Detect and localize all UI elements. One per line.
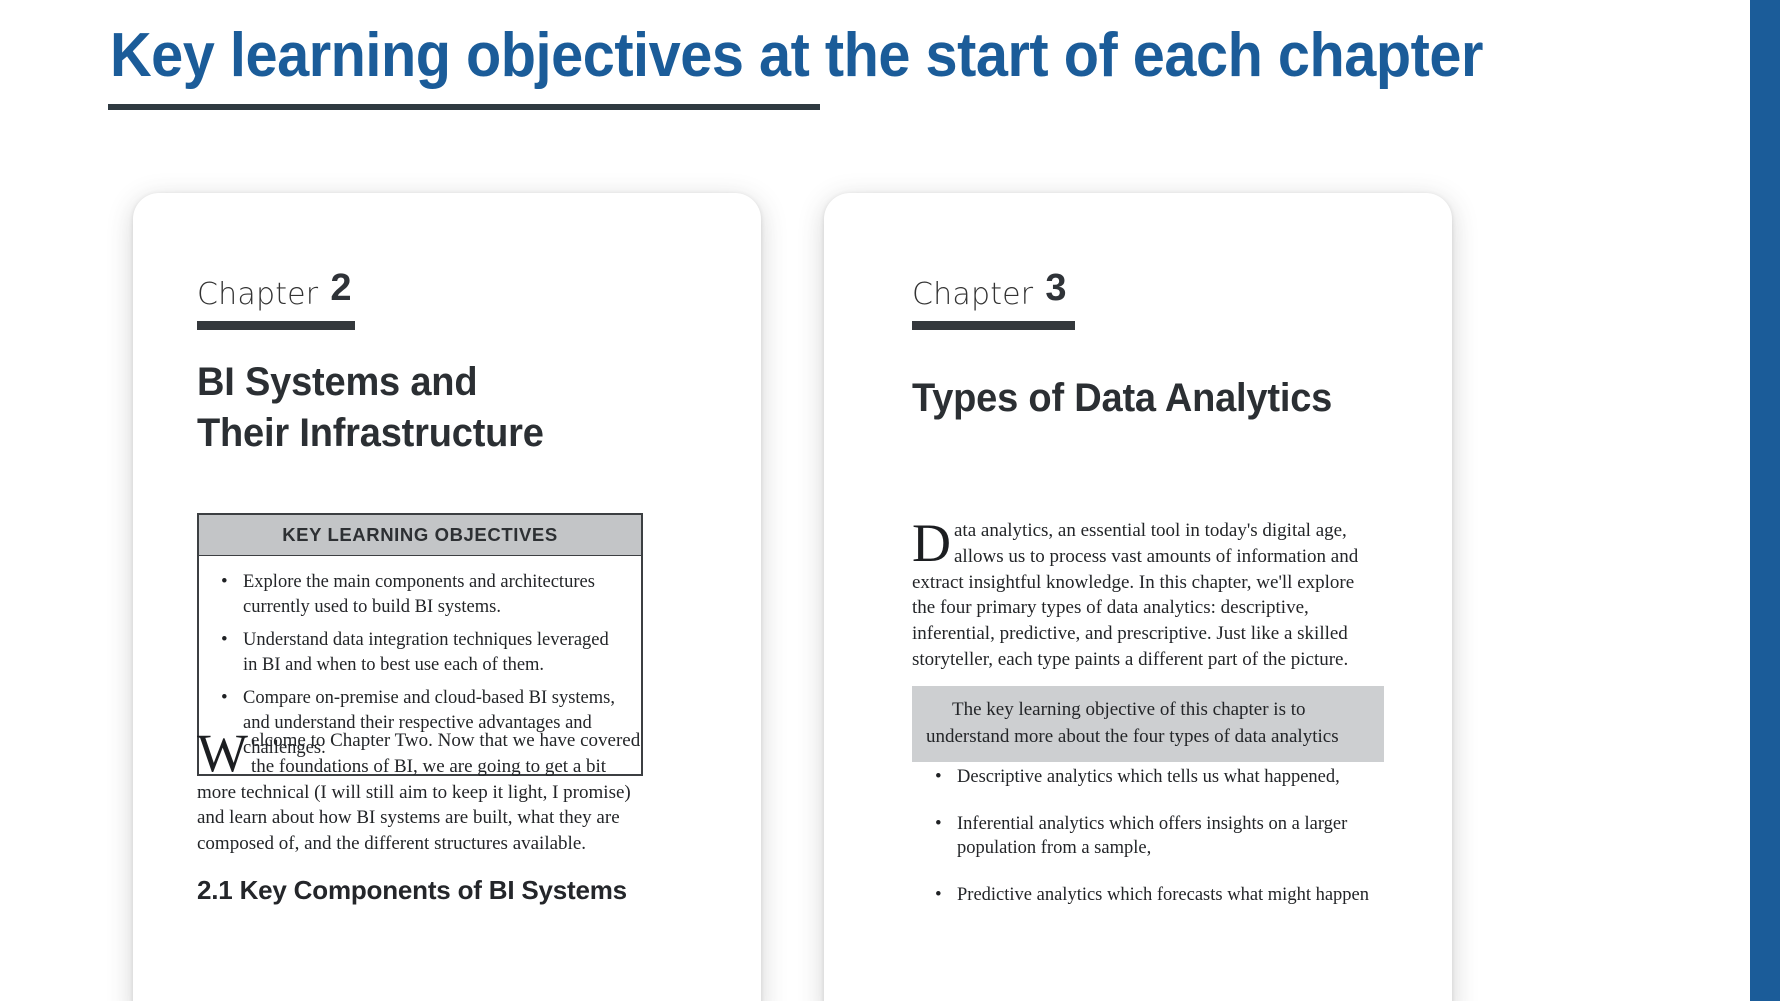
- chapter-title-3: Types of Data Analytics: [912, 373, 1382, 424]
- chapter-rule-3: [912, 321, 1075, 330]
- section-heading-2-1: 2.1 Key Components of BI Systems: [197, 875, 643, 906]
- slide-canvas: Key learning objectives at the start of …: [0, 0, 1780, 1001]
- chapter-eyebrow-3: Chapter 3: [912, 276, 1132, 330]
- intro-paragraph-chapter-3: D ata analytics, an essential tool in to…: [912, 518, 1372, 673]
- chapter-eyebrow-2: Chapter 2: [197, 276, 397, 330]
- list-item: Explore the main components and architec…: [215, 570, 623, 619]
- page-content-chapter-3: Chapter 3 Types of Data Analytics D ata …: [824, 193, 1452, 1001]
- dropcap-letter-w: W: [197, 728, 251, 775]
- page-content-chapter-2: Chapter 2 BI Systems and Their Infrastru…: [133, 193, 761, 1001]
- intro-paragraph-chapter-2: W elcome to Chapter Two. Now that we hav…: [197, 728, 641, 857]
- chapter-label-3: Chapter: [912, 277, 1033, 312]
- key-learning-objectives-header: KEY LEARNING OBJECTIVES: [199, 515, 641, 556]
- right-accent-bar: [1750, 0, 1780, 1001]
- chapter-title-line-1-3: Types of Data Analytics: [912, 373, 1359, 424]
- list-item: Descriptive analytics which tells us wha…: [929, 765, 1399, 790]
- chapter-title-2: BI Systems and Their Infrastructure: [197, 357, 657, 459]
- analytics-types-list: Descriptive analytics which tells us wha…: [929, 765, 1399, 907]
- slide-headline-container: Key learning objectives at the start of …: [110, 24, 1510, 87]
- dropcap-letter-d: D: [912, 518, 954, 565]
- intro-paragraph-text-2: elcome to Chapter Two. Now that we have …: [197, 730, 640, 854]
- list-item: Predictive analytics which forecasts wha…: [929, 883, 1399, 908]
- book-page-card-chapter-3[interactable]: Chapter 3 Types of Data Analytics D ata …: [824, 193, 1452, 1001]
- grey-objective-callout: The key learning objective of this chapt…: [912, 686, 1384, 762]
- chapter-number-3: 3: [1045, 272, 1066, 304]
- chapter-line-3: Chapter 3: [912, 276, 1132, 312]
- analytics-types-list-wrap: Descriptive analytics which tells us wha…: [929, 765, 1399, 907]
- page-title: Key learning objectives at the start of …: [110, 24, 1412, 87]
- chapter-rule-2: [197, 321, 355, 330]
- chapter-label-2: Chapter: [197, 277, 318, 312]
- list-item: Inferential analytics which offers insig…: [929, 812, 1399, 861]
- chapter-line-2: Chapter 2: [197, 276, 397, 312]
- intro-paragraph-text-3: ata analytics, an essential tool in toda…: [912, 520, 1358, 670]
- headline-underline: [108, 104, 820, 110]
- chapter-title-line-1-2: BI Systems and: [197, 357, 634, 408]
- list-item: Understand data integration techniques l…: [215, 628, 623, 677]
- book-page-card-chapter-2[interactable]: Chapter 2 BI Systems and Their Infrastru…: [133, 193, 761, 1001]
- chapter-number-2: 2: [330, 272, 351, 304]
- chapter-title-line-2-2: Their Infrastructure: [197, 408, 634, 459]
- grey-callout-text: The key learning objective of this chapt…: [926, 699, 1339, 747]
